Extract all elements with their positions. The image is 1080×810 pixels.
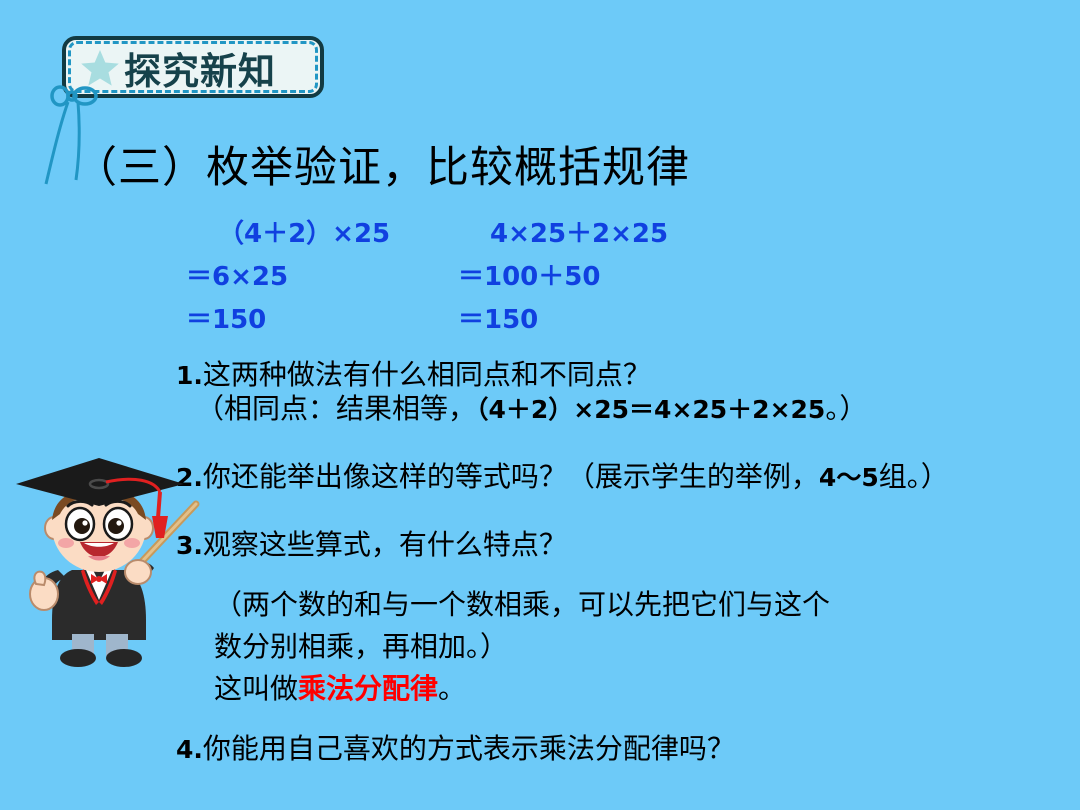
- equation-right-3: ＝150: [458, 299, 538, 336]
- graduate-boy-mascot: [14, 442, 204, 672]
- conclusion-prefix: 这叫做: [214, 674, 298, 705]
- question-text-3: 观察这些算式，有什么特点？: [203, 530, 567, 561]
- spacer: [176, 492, 1056, 532]
- badge-label: 探究新知: [124, 41, 276, 95]
- answer-math-1: （4＋2）×25＝4×25＋2×25: [476, 395, 825, 424]
- equation-row: ＝150 ＝150: [186, 299, 706, 342]
- answer-suffix-1: 。）: [825, 394, 867, 425]
- equation-left-2: ＝6×25: [186, 256, 288, 293]
- question-2-tail: 组。）: [879, 462, 949, 493]
- equation-right-2: ＝100＋50: [458, 256, 600, 293]
- conclusion-suffix: 。: [438, 674, 466, 705]
- spacer: [176, 560, 1056, 572]
- equation-row: ＝6×25 ＝100＋50: [186, 256, 706, 299]
- highlighted-term: 乘法分配律: [298, 674, 438, 705]
- question-item-3: 3.观察这些算式，有什么特点？: [176, 532, 1056, 560]
- equation-left-3: ＝150: [186, 299, 266, 336]
- question-text-2: 你还能举出像这样的等式吗？（展示学生的举例，: [203, 462, 819, 493]
- question-list: 1.这两种做法有什么相同点和不同点？ （相同点：结果相等，（4＋2）×25＝4×…: [176, 362, 1056, 764]
- question-1-answer: （相同点：结果相等，（4＋2）×25＝4×25＋2×25。）: [176, 396, 1056, 424]
- spacer: [176, 424, 1056, 464]
- question-item-2: 2.你还能举出像这样的等式吗？（展示学生的举例，4～5组。）: [176, 464, 1056, 492]
- equation-right-1: 4×25＋2×25: [458, 213, 668, 250]
- equation-left-1: （4＋2）×25: [186, 213, 390, 250]
- question-3-explanation-line1: （两个数的和与一个数相乘，可以先把它们与这个: [176, 592, 1056, 620]
- page-title: （三）枚举验证，比较概括规律: [74, 133, 690, 195]
- answer-prefix-1: （相同点：结果相等，: [196, 394, 476, 425]
- question-3-conclusion: 这叫做乘法分配律。: [176, 676, 1056, 704]
- question-number-4: 4.: [176, 735, 203, 764]
- question-2-range: 4～5: [819, 463, 879, 492]
- question-text-4: 你能用自己喜欢的方式表示乘法分配律吗？: [203, 734, 735, 765]
- equation-row: （4＋2）×25 4×25＋2×25: [186, 213, 706, 256]
- question-text-1: 这两种做法有什么相同点和不同点？: [203, 360, 651, 391]
- spacer: [176, 704, 1056, 716]
- question-number-1: 1.: [176, 361, 203, 390]
- question-3-explanation-line2: 数分别相乘，再相加。）: [176, 634, 1056, 662]
- question-item-1: 1.这两种做法有什么相同点和不同点？: [176, 362, 1056, 390]
- equation-block: （4＋2）×25 4×25＋2×25 ＝6×25 ＝100＋50 ＝150 ＝1…: [186, 213, 706, 342]
- question-item-4: 4.你能用自己喜欢的方式表示乘法分配律吗？: [176, 736, 1056, 764]
- slide-canvas: 探究新知 （三）枚举验证，比较概括规律 （4＋2）×25 4×25＋2×25 ＝…: [0, 0, 1080, 810]
